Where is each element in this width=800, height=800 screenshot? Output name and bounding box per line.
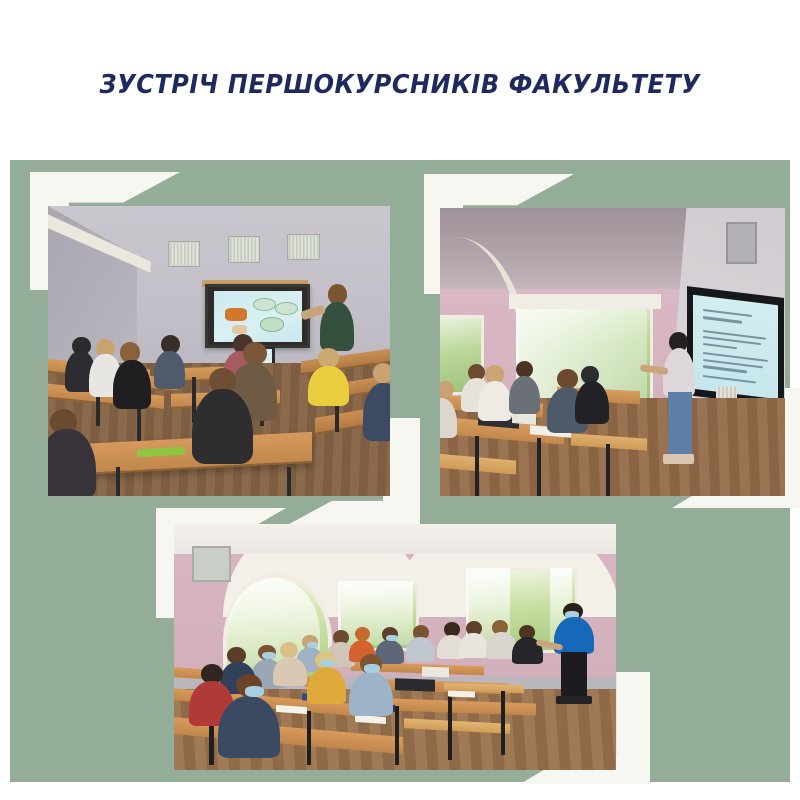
box: [422, 666, 449, 677]
laptop: [395, 678, 435, 692]
wall-frame: [726, 222, 758, 263]
speaker-shoes: [663, 454, 694, 464]
speaker-jeans: [668, 392, 692, 455]
photo-pink-classroom-speaker: [440, 208, 785, 496]
teacher-trousers: [561, 652, 588, 699]
photo-classroom-presentation: [48, 206, 390, 496]
photo-2-image: [440, 208, 785, 496]
photo-1-image: [48, 206, 390, 496]
wall-vent: [192, 546, 231, 582]
photo-lecture-hall-students: [174, 524, 616, 770]
photo-3-image: [174, 524, 616, 770]
title-line-1: ЗУСТРІЧ ПЕРШОКУРСНИКІВ ФАКУЛЬТЕТУ: [24, 70, 776, 101]
teacher-shoes: [556, 696, 591, 703]
poster-canvas: ЗУСТРІЧ ПЕРШОКУРСНИКІВ ФАКУЛЬТЕТУ ДОШКІЛ…: [0, 0, 800, 800]
